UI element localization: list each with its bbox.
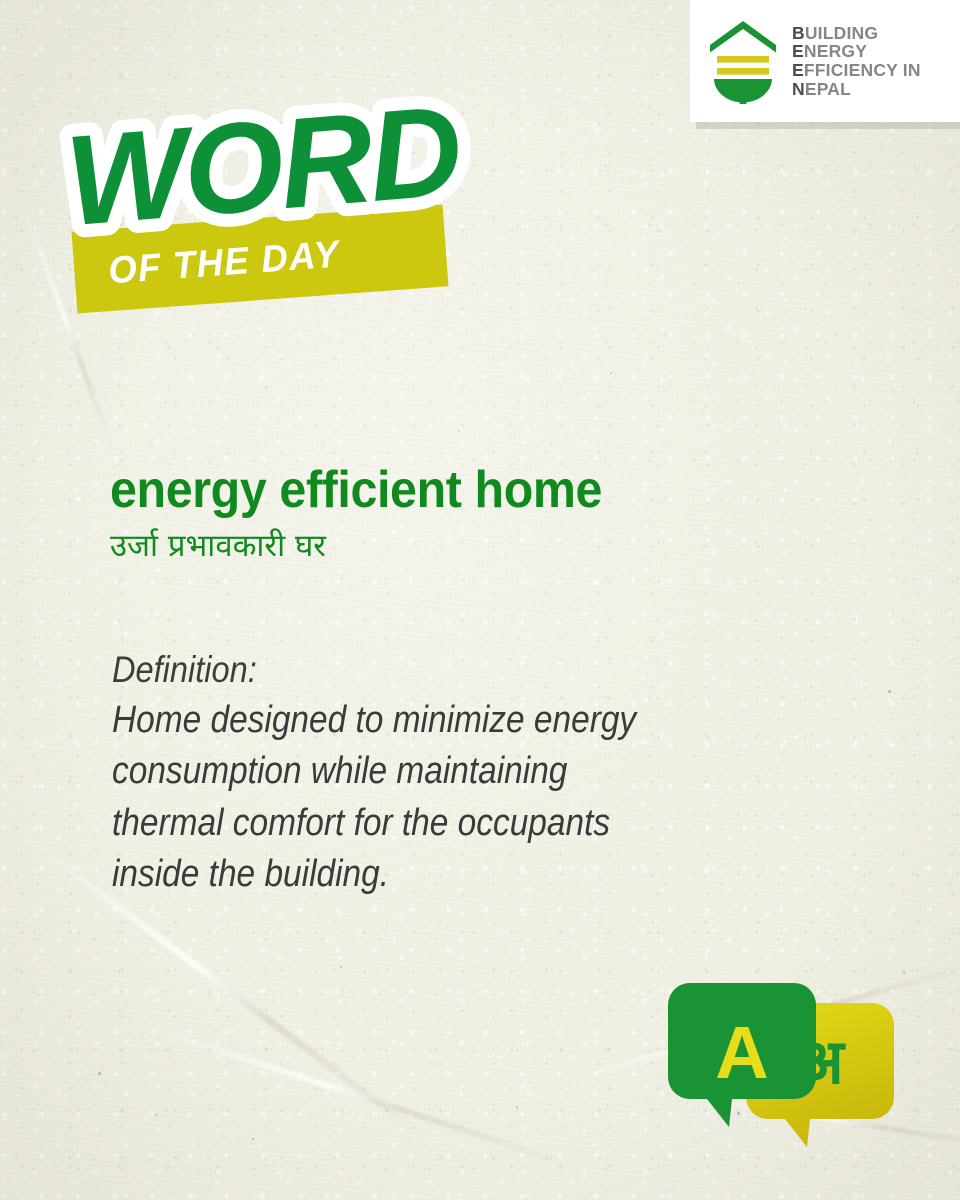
paper-speck	[155, 1114, 157, 1116]
word-block: energy efficient home उर्जा प्रभावकारी घ…	[110, 462, 870, 568]
logo-line-4-rest: EPAL	[805, 79, 851, 99]
logo-line-1: BUILDING	[792, 24, 921, 43]
definition-line: inside the building.	[112, 849, 746, 900]
word-of-the-day-badge: WORD OF THE DAY	[60, 82, 460, 314]
paper-speck	[98, 1072, 101, 1075]
paper-speck	[888, 690, 891, 693]
paper-speck	[903, 972, 905, 974]
word-english: energy efficient home	[110, 462, 817, 518]
definition-line: Home designed to minimize energy	[112, 695, 746, 746]
brand-logo-wordmark: BUILDING ENERGY EFFICIENCY IN NEPAL	[792, 24, 921, 98]
word-nepali: उर्जा प्रभावकारी घर	[110, 526, 870, 568]
been-shield-logo-icon	[706, 18, 780, 104]
paper-speck	[458, 430, 460, 432]
logo-line-3: EFFICIENCY IN	[792, 61, 921, 80]
definition-line: thermal comfort for the occupants	[112, 798, 746, 849]
brand-logo-card: BUILDING ENERGY EFFICIENCY IN NEPAL	[690, 0, 960, 122]
definition-body: Home designed to minimize energy consump…	[112, 695, 746, 900]
logo-line-2-rest: NERGY	[804, 41, 867, 61]
paper-speck	[340, 966, 342, 968]
badge-subtitle-text: OF THE DAY	[107, 233, 341, 293]
definition-line: consumption while maintaining	[112, 746, 746, 797]
logo-line-3-rest: FFICIENCY IN	[804, 60, 921, 80]
paper-speck	[610, 372, 612, 374]
svg-text:A: A	[715, 1011, 768, 1094]
logo-line-4: NEPAL	[792, 80, 921, 99]
logo-line-2: ENERGY	[792, 42, 921, 61]
definition-block: Definition: Home designed to minimize en…	[112, 645, 832, 900]
logo-line-2-cap: E	[792, 41, 804, 61]
logo-line-1-cap: B	[792, 23, 805, 43]
logo-line-3-cap: E	[792, 60, 804, 80]
paper-crease	[130, 1019, 569, 1167]
paper-speck	[252, 1138, 254, 1140]
translate-speech-bubbles-icon: अ A	[668, 975, 908, 1160]
logo-line-4-cap: N	[792, 79, 805, 99]
definition-label: Definition:	[112, 645, 746, 695]
poster-canvas: BUILDING ENERGY EFFICIENCY IN NEPAL WORD…	[0, 0, 960, 1200]
logo-line-1-rest: UILDING	[805, 23, 878, 43]
paper-speck	[516, 1106, 518, 1108]
